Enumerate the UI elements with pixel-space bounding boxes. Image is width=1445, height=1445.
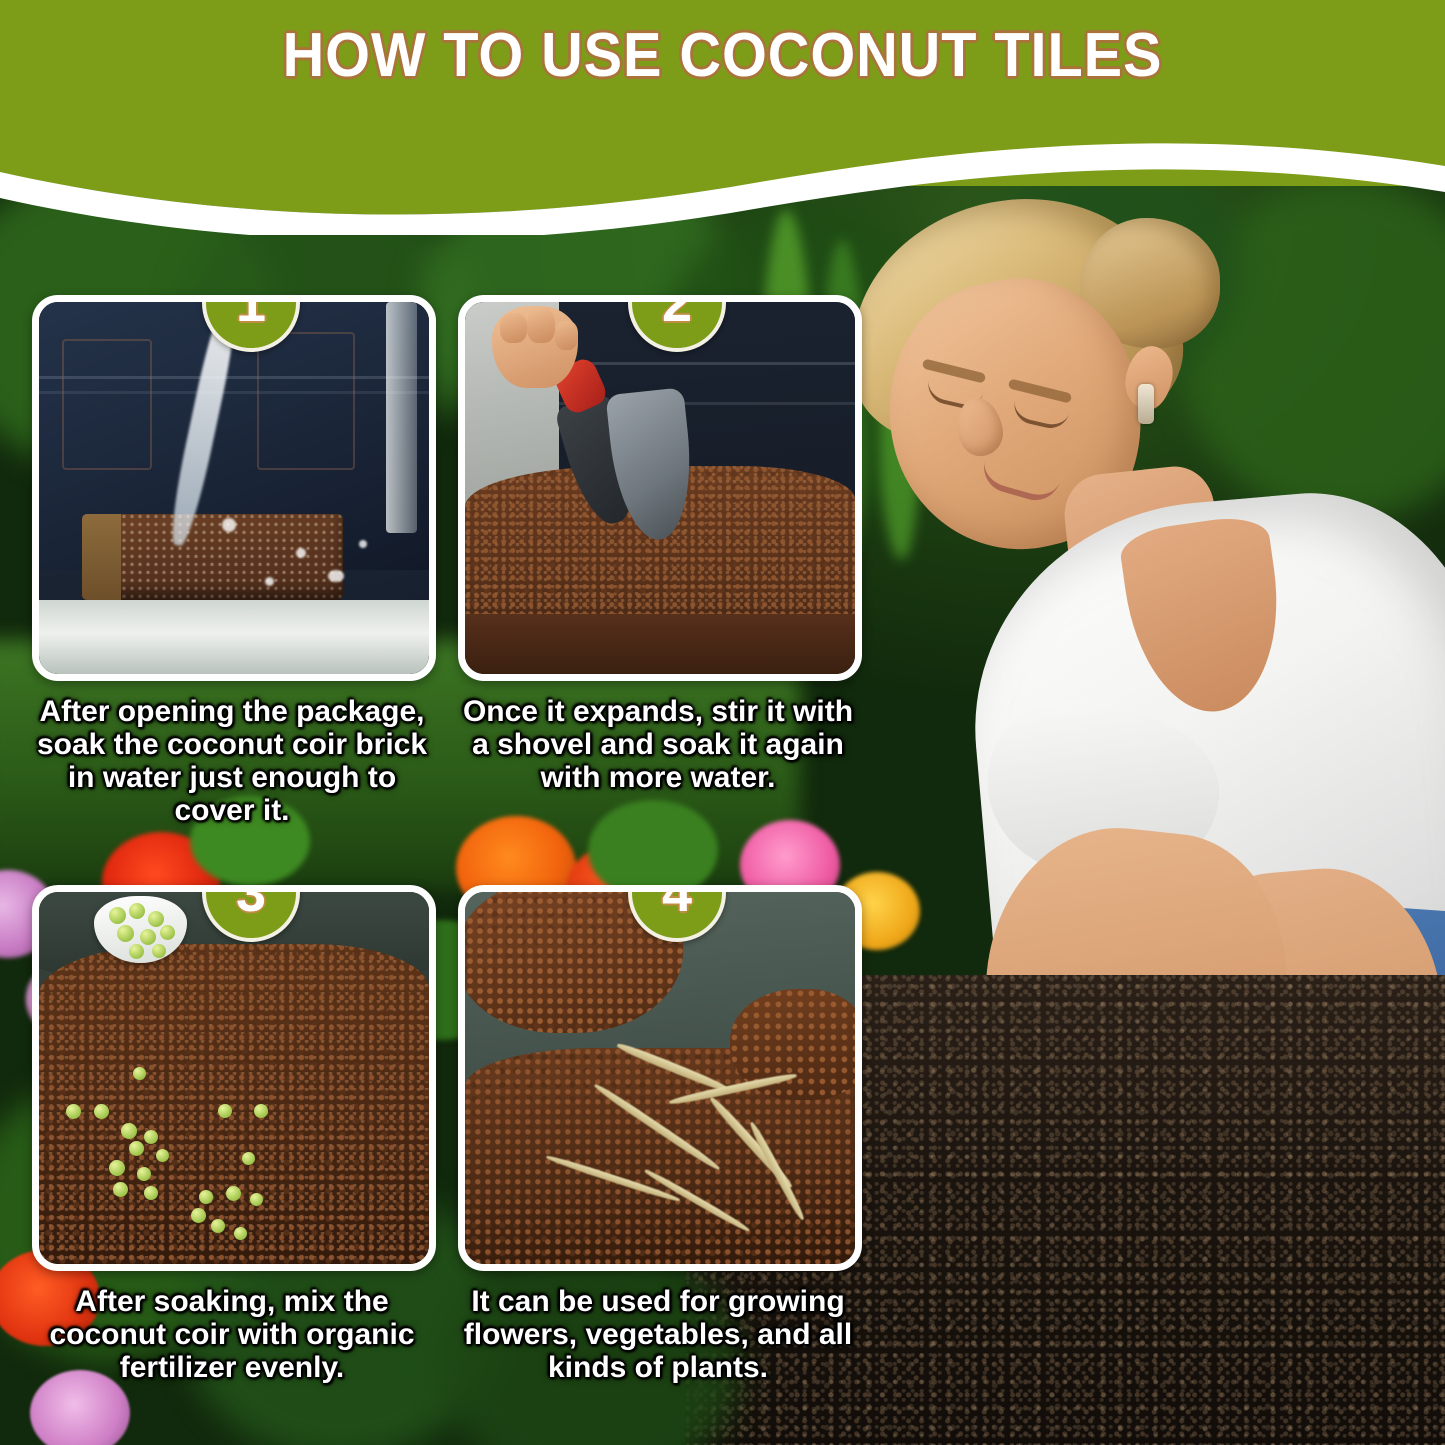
fertilizer-pellet xyxy=(250,1193,263,1206)
fertilizer-pellet xyxy=(254,1104,268,1118)
fertilizer-pellet xyxy=(94,1104,109,1119)
step-badge-number: 2 xyxy=(662,295,692,330)
step-1-thumbnail[interactable]: 1 xyxy=(32,295,436,681)
fertilizer-pellet xyxy=(148,911,164,927)
coir-with-green-fertilizer-pellets-image xyxy=(39,892,429,1264)
fertilizer-pellet xyxy=(199,1190,213,1204)
wave-divider xyxy=(0,120,1445,235)
fertilizer-pellet xyxy=(129,1141,144,1156)
step-4-caption: It can be used for growing flowers, vege… xyxy=(458,1285,858,1384)
fertilizer-pellet xyxy=(234,1227,247,1240)
fertilizer-pellet xyxy=(129,903,145,919)
step-3-caption: After soaking, mix the coconut coir with… xyxy=(32,1285,432,1384)
step-card-2[interactable]: 2 Once it expands, stir it with a shovel… xyxy=(458,295,858,794)
fertilizer-pellet xyxy=(211,1219,225,1233)
step-3-thumbnail[interactable]: 3 xyxy=(32,885,436,1271)
step-card-3[interactable]: 3 After soaking, mix the coconut coir wi… xyxy=(32,885,432,1384)
steps-grid: 1 After opening the package, soak the co… xyxy=(0,240,880,1430)
fertilizer-pellet xyxy=(226,1186,241,1201)
page-title: HOW TO USE COCONUT TILES xyxy=(51,20,1395,91)
fertilizer-pellet xyxy=(109,907,126,924)
plant-roots-growing-in-coir-image xyxy=(465,892,855,1264)
step-badge-number: 3 xyxy=(236,885,266,920)
step-2-thumbnail[interactable]: 2 xyxy=(458,295,862,681)
step-1-caption: After opening the package, soak the coco… xyxy=(32,695,432,827)
step-card-1[interactable]: 1 After opening the package, soak the co… xyxy=(32,295,432,827)
step-card-4[interactable]: 4 It can be used for growing flowers, ve… xyxy=(458,885,858,1384)
step-4-thumbnail[interactable]: 4 xyxy=(458,885,862,1271)
fertilizer-pellet xyxy=(121,1123,137,1139)
trowel-stirring-expanded-coir-image xyxy=(465,302,855,674)
fertilizer-pellet xyxy=(137,1167,151,1181)
fertilizer-pellet xyxy=(156,1149,169,1162)
step-badge-number: 1 xyxy=(236,295,266,330)
fertilizer-pellet xyxy=(109,1160,125,1176)
earring xyxy=(1138,384,1154,424)
step-2-caption: Once it expands, stir it with a shovel a… xyxy=(458,695,858,794)
fertilizer-pellet xyxy=(133,1067,146,1080)
infographic-page: HOW TO USE COCONUT TILES xyxy=(0,0,1445,1445)
step-badge-number: 4 xyxy=(662,885,692,920)
fertilizer-pellet xyxy=(129,944,144,959)
water-pouring-on-coir-brick-image xyxy=(39,302,429,674)
